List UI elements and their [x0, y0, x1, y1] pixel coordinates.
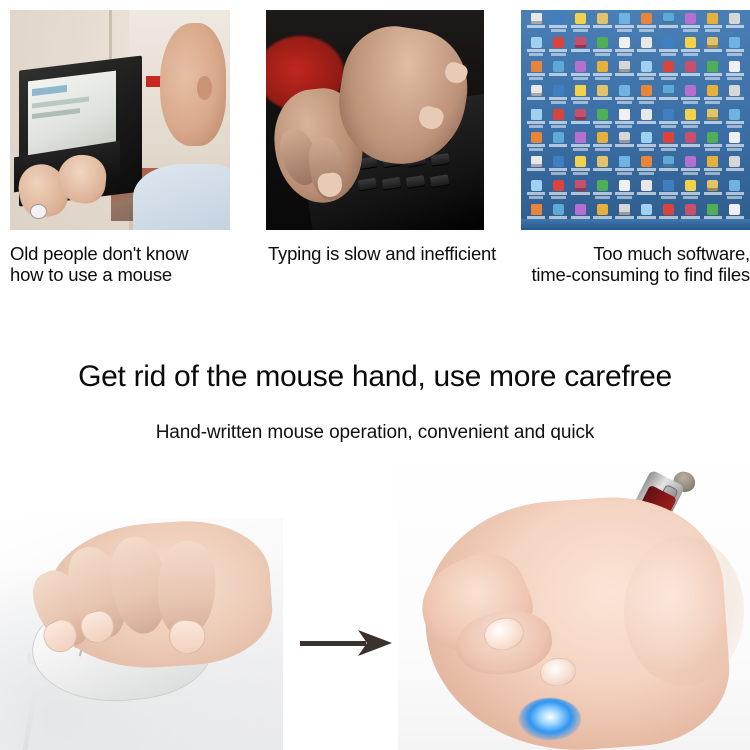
desktop-icon-label-line2: [617, 53, 632, 56]
desktop-icon-label-line2: [683, 53, 698, 56]
desktop-icon-label: [704, 192, 723, 195]
desktop-icon-glyph: [729, 61, 740, 72]
desktop-icon-label: [593, 168, 612, 171]
desktop-icon-label: [704, 97, 723, 100]
desktop-icon-label: [681, 97, 700, 100]
desktop-icon: [570, 156, 591, 179]
desktop-icon: [614, 37, 635, 60]
desktop-icon-label: [637, 168, 656, 171]
desktop-icon: [526, 61, 547, 84]
desktop-icon-glyph: [619, 132, 630, 143]
desktop-icon-label-line2: [595, 125, 610, 128]
desktop-icon-glyph: [619, 13, 630, 24]
desktop-icon: [614, 109, 635, 132]
desktop-icon-glyph: [641, 37, 652, 48]
desktop-icon-label: [681, 144, 700, 147]
desktop-icon: [614, 85, 635, 108]
desktop-icon: [592, 109, 613, 132]
desktop-icon-glyph: [575, 37, 586, 48]
desktop-icon: [724, 85, 745, 108]
problem-caption-old-people: Old people don't know how to use a mouse: [10, 243, 250, 285]
desktop-icon-label: [659, 168, 678, 171]
desktop-icon-label-line2: [595, 77, 610, 80]
desktop-icon-glyph: [531, 37, 542, 48]
desktop-icon: [658, 156, 679, 179]
desktop-icon-glyph: [729, 109, 740, 120]
desktop-icon: [548, 109, 569, 132]
desktop-icon-label: [615, 144, 634, 147]
desktop-icon-label: [549, 144, 568, 147]
desktop-icon-label-line2: [683, 125, 698, 128]
elderly-man-using-laptop-photo: [10, 10, 230, 230]
desktop-icon-glyph: [685, 37, 696, 48]
desktop-icon-label-line2: [529, 196, 544, 199]
problem-caption-typing-slow: Typing is slow and inefficient: [252, 243, 512, 264]
desktop-icon: [570, 180, 591, 203]
desktop-icon: [548, 61, 569, 84]
desktop-icon: [570, 13, 591, 36]
desktop-icon-label-line2: [617, 29, 632, 32]
desktop-icon-glyph: [619, 61, 630, 72]
desktop-icon-label-line2: [573, 172, 588, 175]
desktop-icon-label: [615, 192, 634, 195]
desktop-icon: [548, 156, 569, 179]
desktop-icon: [702, 61, 723, 84]
desktop-icon: [658, 37, 679, 60]
desktop-icon: [614, 13, 635, 36]
desktop-icon-label: [527, 168, 546, 171]
desktop-icon-label: [593, 49, 612, 52]
desktop-icon-label-line2: [705, 148, 720, 151]
desktop-icon-label: [637, 73, 656, 76]
desktop-icon: [636, 13, 657, 36]
desktop-icon: [614, 180, 635, 203]
desktop-icon-label: [726, 144, 745, 147]
desktop-icon-label-line2: [551, 29, 566, 32]
desktop-icon-glyph: [575, 85, 586, 96]
desktop-icon-label-line2: [573, 148, 588, 151]
desktop-icon: [658, 132, 679, 155]
desktop-icon-label-line2: [551, 196, 566, 199]
desktop-icon-glyph: [663, 204, 674, 215]
desktop-icon-label-line2: [573, 29, 588, 32]
desktop-icon-label: [726, 49, 745, 52]
desktop-icon-label: [571, 144, 590, 147]
desktop-icon-label-line2: [683, 101, 698, 104]
desktop-icon-glyph: [707, 109, 718, 120]
desktop-icon-label: [615, 49, 634, 52]
desktop-icon-glyph: [553, 132, 564, 143]
desktop-icon-label: [549, 25, 568, 28]
desktop-icon: [592, 13, 613, 36]
desktop-icon: [592, 37, 613, 60]
desktop-icon: [636, 109, 657, 132]
desktop-icon-label-line2: [727, 77, 742, 80]
desktop-icon-label-line2: [529, 53, 544, 56]
desktop-icon-label: [659, 144, 678, 147]
desktop-icon-glyph: [619, 156, 630, 167]
desktop-icon: [636, 37, 657, 60]
problem-caption-too-much-software: Too much software, time-consuming to fin…: [495, 243, 750, 285]
desktop-icon-label: [527, 73, 546, 76]
desktop-icon-label: [593, 25, 612, 28]
desktop-icon-label: [615, 121, 634, 124]
desktop-icon-label: [527, 121, 546, 124]
desktop-icon-glyph: [531, 204, 542, 215]
desktop-icon-glyph: [553, 37, 564, 48]
desktop-icon-label-line2: [727, 196, 742, 199]
desktop-icon-label: [637, 144, 656, 147]
desktop-icon-label: [527, 192, 546, 195]
desktop-icon-label-line2: [573, 101, 588, 104]
desktop-icon-glyph: [597, 180, 608, 191]
desktop-icon-label: [571, 49, 590, 52]
desktop-icon: [614, 132, 635, 155]
desktop-icon: [526, 109, 547, 132]
desktop-icon-label-line2: [705, 101, 720, 104]
desktop-icon: [658, 13, 679, 36]
desktop-icon: [636, 85, 657, 108]
desktop-icon-glyph: [685, 156, 696, 167]
desktop-icon-label-line2: [529, 148, 544, 151]
desktop-icon-label: [637, 49, 656, 52]
desktop-icon: [548, 85, 569, 108]
desktop-icon-glyph: [531, 180, 542, 191]
desktop-icon-glyph: [553, 156, 564, 167]
desktop-icon-glyph: [597, 85, 608, 96]
desktop-icon-label: [637, 25, 656, 28]
desktop-icon-glyph: [663, 109, 674, 120]
desktop-icon: [724, 37, 745, 60]
desktop-icon: [570, 37, 591, 60]
desktop-icon-glyph: [707, 132, 718, 143]
desktop-icon-glyph: [685, 61, 696, 72]
desktop-icon-label: [615, 168, 634, 171]
desktop-icon-label: [527, 144, 546, 147]
desktop-icon-label: [681, 168, 700, 171]
desktop-icon-label-line2: [639, 148, 654, 151]
desktop-icon: [680, 37, 701, 60]
desktop-icon-label-line2: [705, 77, 720, 80]
desktop-icon-label: [527, 97, 546, 100]
desktop-icon: [680, 85, 701, 108]
desktop-icon-label: [704, 121, 723, 124]
desktop-icon: [658, 180, 679, 203]
desktop-icon-label: [637, 192, 656, 195]
desktop-icon-glyph: [685, 180, 696, 191]
desktop-icon: [592, 61, 613, 84]
desktop-icon-label: [593, 97, 612, 100]
desktop-icon: [680, 156, 701, 179]
desktop-icon: [724, 132, 745, 155]
desktop-icon-label: [704, 49, 723, 52]
desktop-icon-label: [527, 49, 546, 52]
desktop-icon-label-line2: [617, 196, 632, 199]
desktop-icon-label: [659, 25, 678, 28]
desktop-icon: [570, 109, 591, 132]
promo-headline: Get rid of the mouse hand, use more care…: [0, 360, 750, 394]
desktop-icon-glyph: [575, 13, 586, 24]
desktop-icon-label-line2: [551, 53, 566, 56]
desktop-icon-label-line2: [617, 101, 632, 104]
desktop-icon-glyph: [597, 37, 608, 48]
desktop-icon: [592, 156, 613, 179]
desktop-icon-label: [726, 97, 745, 100]
desktop-icon-glyph: [575, 61, 586, 72]
desktop-icon: [702, 156, 723, 179]
desktop-icon-glyph: [685, 85, 696, 96]
desktop-icon-label-line2: [617, 172, 632, 175]
desktop-icon: [680, 13, 701, 36]
desktop-icon-glyph: [641, 180, 652, 191]
desktop-icon: [680, 61, 701, 84]
desktop-icon-label-line2: [639, 172, 654, 175]
desktop-icon-label: [704, 168, 723, 171]
desktop-icon-glyph: [575, 156, 586, 167]
desktop-icon-label-line2: [595, 196, 610, 199]
desktop-icon-label: [549, 49, 568, 52]
desktop-icon-glyph: [707, 61, 718, 72]
desktop-icon-glyph: [553, 13, 564, 24]
desktop-icon-label: [571, 97, 590, 100]
desktop-icon-glyph: [531, 85, 542, 96]
desktop-icon-label-line2: [573, 77, 588, 80]
desktop-icon-label: [571, 168, 590, 171]
desktop-icon-label-line2: [661, 196, 676, 199]
desktop-icon: [658, 109, 679, 132]
right-arrow-icon: [300, 628, 392, 658]
desktop-icon-glyph: [663, 37, 674, 48]
desktop-icon-label: [681, 25, 700, 28]
desktop-icon-glyph: [707, 85, 718, 96]
desktop-icon-label-line2: [551, 125, 566, 128]
desktop-icon-label-line2: [661, 125, 676, 128]
desktop-icon-label: [549, 168, 568, 171]
desktop-icon-glyph: [597, 61, 608, 72]
desktop-icon-label: [681, 73, 700, 76]
desktop-icon-label: [637, 97, 656, 100]
desktop-icon-glyph: [663, 180, 674, 191]
desktop-icon-label-line2: [551, 101, 566, 104]
desktop-icon: [526, 156, 547, 179]
desktop-icon-glyph: [707, 13, 718, 24]
desktop-icon-label: [659, 121, 678, 124]
desktop-icon-label: [593, 144, 612, 147]
desktop-icon-glyph: [531, 13, 542, 24]
desktop-icon-glyph: [707, 37, 718, 48]
desktop-icon: [526, 85, 547, 108]
desktop-icon-glyph: [531, 109, 542, 120]
desktop-icon-label: [704, 144, 723, 147]
desktop-icon-glyph: [685, 204, 696, 215]
desktop-icon-glyph: [729, 204, 740, 215]
desktop-icon-glyph: [685, 109, 696, 120]
desktop-icon: [526, 132, 547, 155]
desktop-icon-glyph: [575, 180, 586, 191]
desktop-icon-label-line2: [595, 53, 610, 56]
desktop-icon-glyph: [619, 180, 630, 191]
desktop-icon-label-line2: [727, 53, 742, 56]
desktop-icon-glyph: [531, 156, 542, 167]
desktop-icon-label-line2: [617, 125, 632, 128]
desktop-icon-glyph: [729, 13, 740, 24]
desktop-icon: [548, 13, 569, 36]
desktop-icon-label: [593, 73, 612, 76]
desktop-icon-label-line2: [705, 29, 720, 32]
desktop-icon: [702, 109, 723, 132]
desktop-icon-glyph: [707, 204, 718, 215]
cluttered-windows-desktop-photo: [521, 10, 750, 230]
desktop-icon-glyph: [597, 132, 608, 143]
desktop-icon-label-line2: [661, 53, 676, 56]
desktop-icon-glyph: [729, 85, 740, 96]
hand-on-white-wired-mouse-photo: [0, 518, 283, 750]
desktop-icon: [680, 180, 701, 203]
desktop-icon-glyph: [597, 204, 608, 215]
desktop-icon-label-line2: [683, 29, 698, 32]
desktop-icon-label-line2: [705, 172, 720, 175]
desktop-icon-glyph: [663, 13, 674, 24]
desktop-icon: [658, 85, 679, 108]
desktop-icon-glyph: [597, 109, 608, 120]
desktop-icon-label: [615, 73, 634, 76]
desktop-icon-label: [659, 73, 678, 76]
desktop-icon: [636, 61, 657, 84]
desktop-icon-glyph: [641, 109, 652, 120]
desktop-icon-label-line2: [683, 196, 698, 199]
desktop-icon-glyph: [553, 85, 564, 96]
desktop-icon: [614, 61, 635, 84]
desktop-icon: [592, 85, 613, 108]
desktop-icon-label-line2: [529, 77, 544, 80]
desktop-icon: [724, 13, 745, 36]
desktop-icon: [702, 37, 723, 60]
desktop-icon-glyph: [641, 132, 652, 143]
desktop-icon-label: [615, 97, 634, 100]
desktop-icon: [702, 85, 723, 108]
desktop-icon-glyph: [729, 132, 740, 143]
desktop-icon-label: [726, 25, 745, 28]
desktop-icon-label-line2: [595, 148, 610, 151]
desktop-icon: [658, 61, 679, 84]
desktop-icon-glyph: [619, 204, 630, 215]
desktop-icon-glyph: [575, 204, 586, 215]
desktop-icon-label: [571, 192, 590, 195]
desktop-icon: [570, 132, 591, 155]
desktop-icon: [526, 13, 547, 36]
desktop-icon-label-line2: [529, 125, 544, 128]
desktop-icon-label-line2: [639, 29, 654, 32]
desktop-icon-label: [593, 121, 612, 124]
desktop-icon-label: [726, 192, 745, 195]
desktop-icon-label: [571, 25, 590, 28]
desktop-icon-label: [726, 73, 745, 76]
desktop-icon-glyph: [641, 13, 652, 24]
desktop-icon: [592, 132, 613, 155]
desktop-icon-label-line2: [639, 77, 654, 80]
hands-typing-on-keyboard-photo: [266, 10, 484, 230]
desktop-icon-glyph: [553, 109, 564, 120]
desktop-icon-label: [549, 73, 568, 76]
desktop-icon: [614, 156, 635, 179]
desktop-icon-glyph: [641, 204, 652, 215]
desktop-icon-label-line2: [551, 172, 566, 175]
desktop-icon-glyph: [597, 156, 608, 167]
desktop-icon: [680, 109, 701, 132]
desktop-icon-label-line2: [639, 101, 654, 104]
desktop-icon-glyph: [575, 109, 586, 120]
desktop-icon-label: [681, 192, 700, 195]
before-after-section: [0, 440, 750, 750]
desktop-icon: [680, 132, 701, 155]
desktop-icon-label: [659, 97, 678, 100]
desktop-icon: [636, 156, 657, 179]
desktop-icon-label: [527, 25, 546, 28]
desktop-icon-glyph: [729, 156, 740, 167]
desktop-icon-label: [659, 192, 678, 195]
desktop-icon-label: [681, 121, 700, 124]
desktop-icon: [526, 37, 547, 60]
desktop-icon-glyph: [663, 132, 674, 143]
desktop-icon-label-line2: [727, 148, 742, 151]
desktop-icon-glyph: [531, 61, 542, 72]
desktop-icon-glyph: [619, 37, 630, 48]
desktop-icon-label-line2: [727, 125, 742, 128]
desktop-icon-label: [571, 121, 590, 124]
desktop-icon-label: [726, 168, 745, 171]
desktop-icon: [724, 109, 745, 132]
product-feature-page: Old people don't know how to use a mouse…: [0, 0, 750, 750]
desktop-icon-label: [704, 25, 723, 28]
desktop-icon-glyph: [597, 13, 608, 24]
desktop-icon-label-line2: [661, 148, 676, 151]
desktop-icon: [592, 180, 613, 203]
desktop-icon-label: [659, 49, 678, 52]
desktop-icon-glyph: [553, 61, 564, 72]
desktop-icon-label: [549, 121, 568, 124]
desktop-icon: [548, 180, 569, 203]
hand-holding-red-pen-mouse-photo: [398, 440, 750, 750]
desktop-icon-label-line2: [683, 172, 698, 175]
desktop-icon-glyph: [663, 85, 674, 96]
desktop-icon-glyph: [553, 204, 564, 215]
desktop-icon-glyph: [619, 85, 630, 96]
desktop-icon-label: [593, 192, 612, 195]
desktop-icon: [724, 180, 745, 203]
desktop-icon-glyph: [663, 156, 674, 167]
desktop-icon: [526, 180, 547, 203]
desktop-icon: [570, 61, 591, 84]
desktop-icon-label: [681, 49, 700, 52]
desktop-icon-label: [549, 192, 568, 195]
desktop-icon: [724, 156, 745, 179]
desktop-icon-glyph: [641, 85, 652, 96]
desktop-icon: [548, 37, 569, 60]
desktop-icon-label: [637, 121, 656, 124]
desktop-icon-glyph: [619, 109, 630, 120]
desktop-icon-glyph: [641, 61, 652, 72]
desktop-icon-glyph: [707, 156, 718, 167]
desktop-icon-glyph: [553, 180, 564, 191]
desktop-icon-label: [571, 73, 590, 76]
desktop-icon: [724, 61, 745, 84]
desktop-icon: [702, 132, 723, 155]
desktop-icon-glyph: [575, 132, 586, 143]
desktop-icon: [702, 13, 723, 36]
desktop-icon-glyph: [729, 180, 740, 191]
desktop-icon-glyph: [685, 13, 696, 24]
desktop-icon-glyph: [707, 180, 718, 191]
